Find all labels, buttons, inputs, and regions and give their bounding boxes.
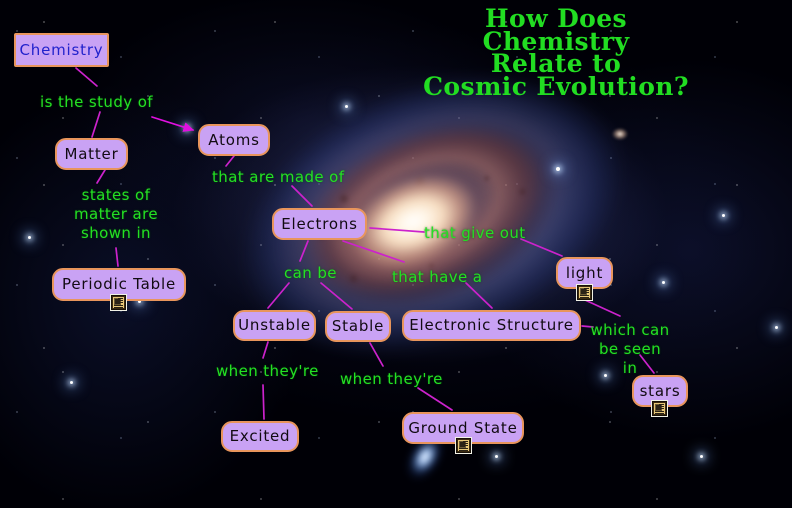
bright-star: [556, 167, 560, 171]
concept-map-canvas: How Does Chemistry Relate to Cosmic Evol…: [0, 0, 792, 526]
document-thumbnail-glyph: [578, 286, 591, 299]
node-atoms[interactable]: Atoms: [198, 124, 270, 156]
document-lines-glyph: [659, 404, 664, 409]
document-thumbnail-icon[interactable]: [110, 294, 127, 311]
foreground-star-bright: [612, 128, 628, 140]
caption-can-be: can be: [284, 264, 337, 283]
node-label: Ground State: [408, 421, 517, 436]
node-label: Atoms: [208, 133, 259, 148]
caption-is-the-study-of: is the study of: [40, 93, 153, 112]
node-label: Excited: [230, 429, 291, 444]
document-lines-glyph: [463, 441, 468, 446]
document-thumbnail-icon[interactable]: [576, 284, 593, 301]
document-thumbnail-glyph: [457, 439, 470, 452]
document-thumbnail-icon[interactable]: [651, 400, 668, 417]
bright-star: [185, 126, 189, 130]
caption-that-are-made-of: that are made of: [212, 168, 344, 187]
bright-star: [722, 214, 725, 217]
bright-star: [775, 326, 778, 329]
bright-star: [700, 455, 703, 458]
node-label: Unstable: [238, 318, 311, 333]
node-electrons[interactable]: Electrons: [272, 208, 367, 240]
caption-that-have-a: that have a: [392, 268, 482, 287]
document-thumbnail-icon[interactable]: [455, 437, 472, 454]
node-label: Stable: [332, 319, 384, 334]
caption-when-theyre-stable: when they're: [340, 370, 443, 389]
document-thumbnail-glyph: [653, 402, 666, 415]
node-stable[interactable]: Stable: [325, 311, 391, 342]
caption-states-of-matter-are-shown-in: states of matter are shown in: [70, 186, 162, 243]
bright-star: [28, 236, 31, 239]
caption-that-give-out: that give out: [424, 224, 526, 243]
bright-star: [662, 281, 665, 284]
node-matter[interactable]: Matter: [55, 138, 128, 170]
node-label: Electronic Structure: [409, 318, 573, 333]
caption-which-can-be-seen-in: which can be seen in: [590, 321, 670, 378]
caption-when-theyre-unstable: when they're: [216, 362, 319, 381]
page-title: How Does Chemistry Relate to Cosmic Evol…: [386, 8, 726, 98]
node-chemistry[interactable]: Chemistry: [14, 33, 109, 67]
node-electronic-structure[interactable]: Electronic Structure: [402, 310, 581, 341]
node-label: Electrons: [281, 217, 358, 232]
bright-star: [70, 381, 73, 384]
document-lines-glyph: [584, 288, 589, 293]
node-label: stars: [640, 384, 681, 399]
document-lines-glyph: [118, 298, 123, 303]
node-unstable[interactable]: Unstable: [233, 310, 316, 341]
bright-star: [345, 105, 348, 108]
node-label: Chemistry: [20, 43, 104, 58]
node-label: Periodic Table: [62, 277, 176, 292]
document-thumbnail-glyph: [112, 296, 125, 309]
node-label: light: [566, 266, 603, 281]
bottom-white-strip: [0, 508, 792, 526]
node-excited[interactable]: Excited: [221, 421, 299, 452]
bright-star: [495, 455, 498, 458]
node-label: Matter: [64, 147, 118, 162]
